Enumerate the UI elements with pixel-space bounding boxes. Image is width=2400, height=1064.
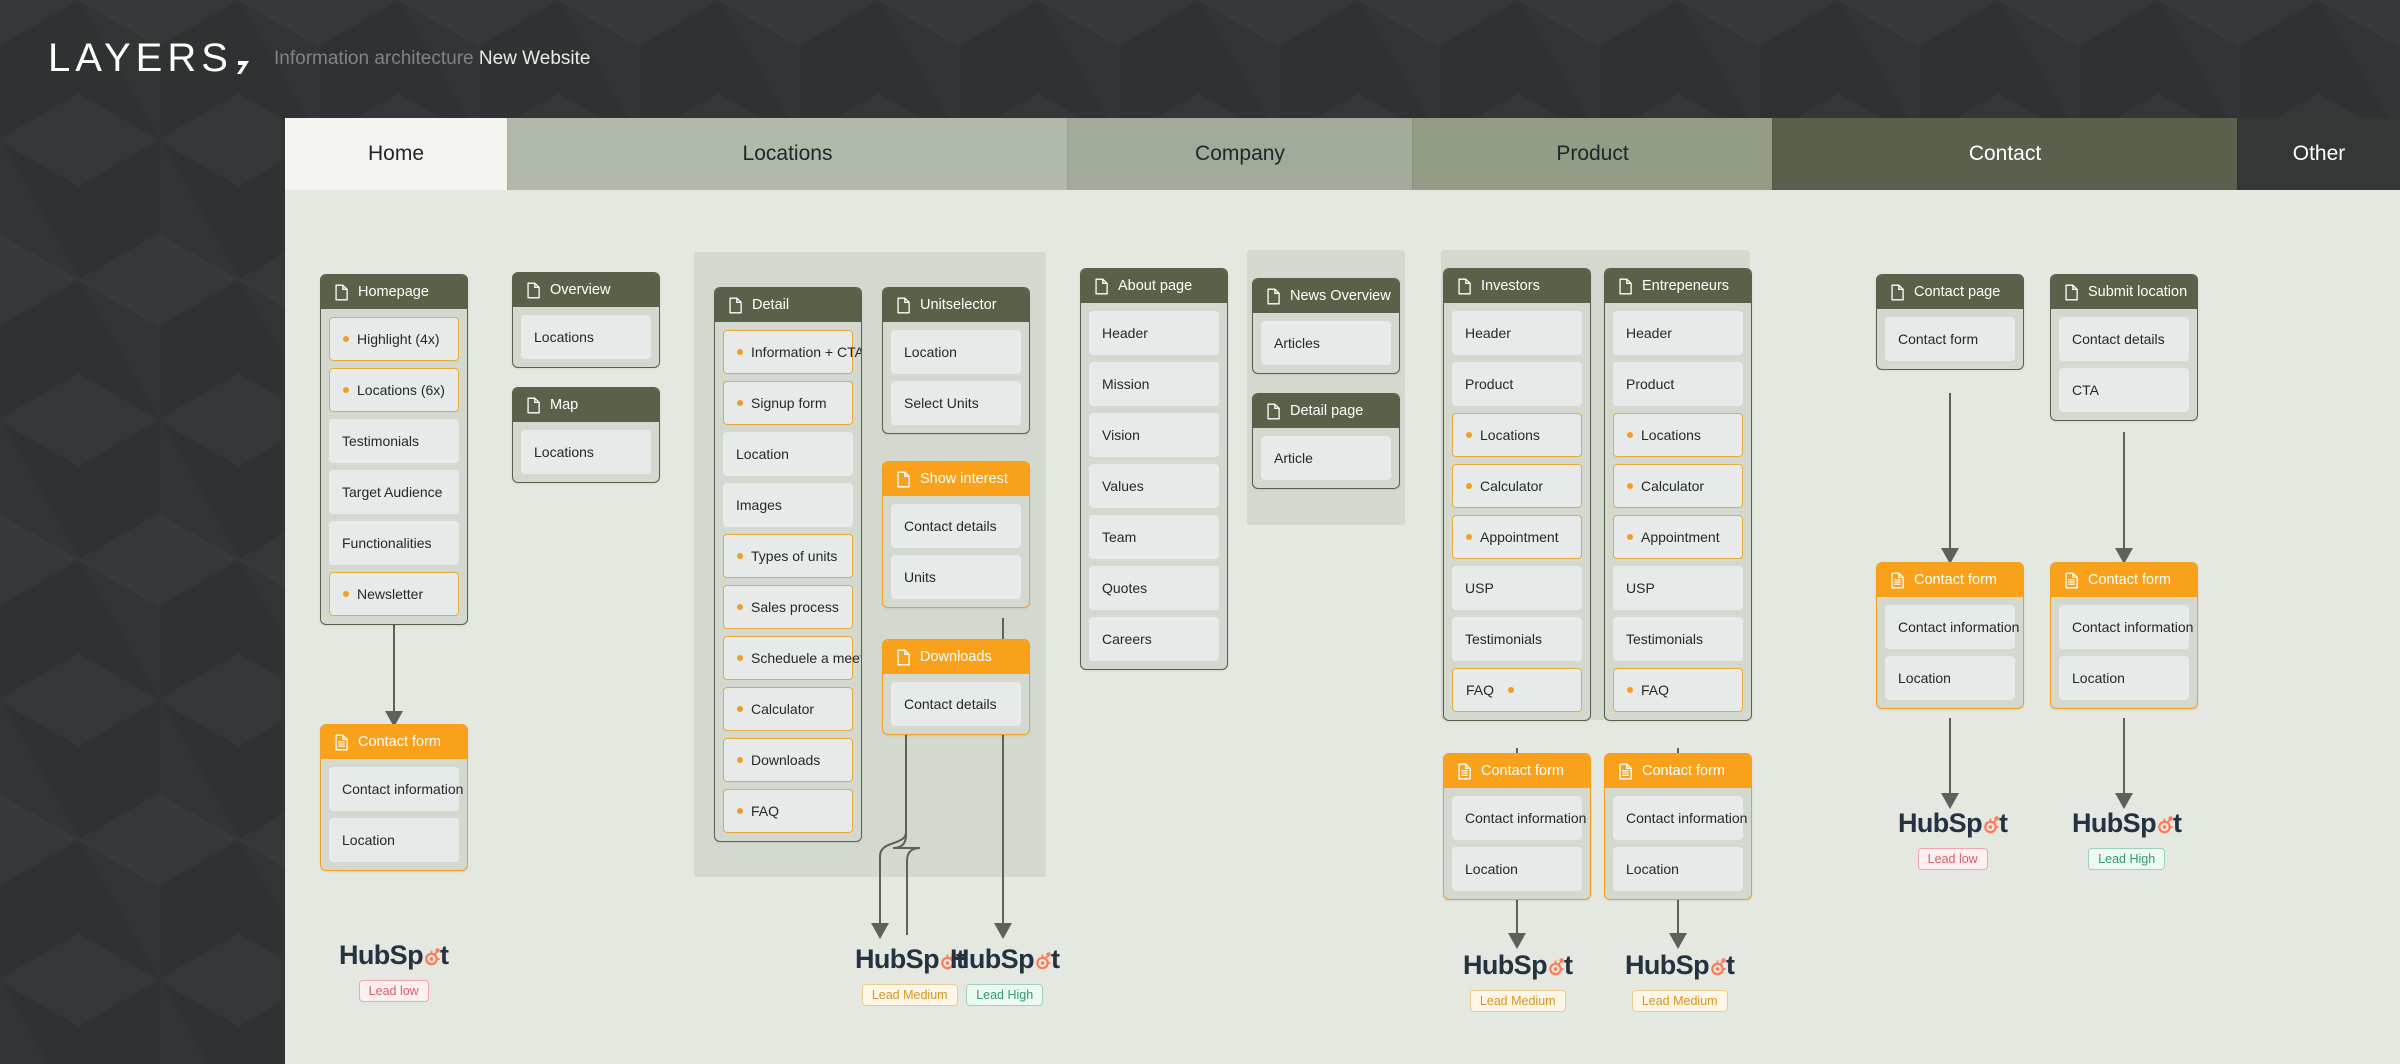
card-row[interactable]: Header bbox=[1613, 311, 1743, 355]
card-homepage[interactable]: HomepageHighlight (4x)Locations (6x)Test… bbox=[320, 274, 468, 625]
hubspot-contact-left: HubSptLead low bbox=[1898, 808, 2007, 870]
card-row-label: Contact form bbox=[1898, 331, 1978, 347]
tab-company[interactable]: Company bbox=[1067, 118, 1412, 190]
card-row-label: Contact details bbox=[904, 518, 997, 534]
card-title: Contact form bbox=[1914, 572, 1997, 588]
card-row[interactable]: USP bbox=[1613, 566, 1743, 610]
card-row[interactable]: Article bbox=[1261, 436, 1391, 480]
card-row-label: Signup form bbox=[751, 395, 826, 411]
card-row-label: Article bbox=[1274, 450, 1313, 466]
card-row-label: Information + CTA bbox=[751, 344, 862, 360]
card-row-label: Header bbox=[1465, 325, 1511, 341]
highlight-dot-icon bbox=[1627, 483, 1633, 489]
lead-status-badge: Lead Medium bbox=[1470, 990, 1566, 1012]
card-body: HeaderMissionVisionValuesTeamQuotesCaree… bbox=[1081, 303, 1227, 669]
card-row-label: Vision bbox=[1102, 427, 1140, 443]
card-row[interactable]: Appointment bbox=[1613, 515, 1743, 559]
document-icon bbox=[1094, 278, 1109, 295]
card-entrepeneurs-contact-form[interactable]: Contact formContact informationLocation bbox=[1604, 753, 1752, 900]
card-show-interest[interactable]: Show interestContact detailsUnits bbox=[882, 461, 1030, 608]
tab-label: Locations bbox=[743, 142, 833, 166]
card-row[interactable]: Location bbox=[723, 432, 853, 476]
card-row-label: Select Units bbox=[904, 395, 979, 411]
card-row-label: Quotes bbox=[1102, 580, 1147, 596]
card-row[interactable]: Contact information bbox=[1613, 796, 1743, 840]
card-row[interactable]: Locations (6x) bbox=[329, 368, 459, 412]
highlight-dot-icon bbox=[737, 655, 743, 661]
card-map[interactable]: MapLocations bbox=[512, 387, 660, 483]
highlight-dot-icon bbox=[343, 336, 349, 342]
logo-wordmark: LAYERS bbox=[48, 36, 233, 81]
card-row-label: Calculator bbox=[1480, 478, 1543, 494]
card-contact-form-left[interactable]: Contact formContact informationLocation bbox=[1876, 562, 2024, 709]
card-row-label: Product bbox=[1465, 376, 1513, 392]
form-icon bbox=[1457, 763, 1472, 780]
card-row-label: Target Audience bbox=[342, 484, 442, 500]
card-row-label: Calculator bbox=[1641, 478, 1704, 494]
hubspot-downloads: HubSptLead Medium bbox=[855, 944, 964, 1006]
card-title: News Overview bbox=[1290, 288, 1391, 304]
tab-locations[interactable]: Locations bbox=[507, 118, 1067, 190]
lead-status-badge: Lead High bbox=[966, 984, 1043, 1006]
card-title: Overview bbox=[550, 282, 610, 298]
card-row[interactable]: Contact details bbox=[2059, 317, 2189, 361]
hubspot-investors: HubSptLead Medium bbox=[1463, 950, 1572, 1012]
tab-label: Other bbox=[2293, 142, 2346, 166]
card-row[interactable]: Contact details bbox=[891, 682, 1021, 726]
highlight-dot-icon bbox=[1466, 432, 1472, 438]
card-contact-page[interactable]: Contact pageContact form bbox=[1876, 274, 2024, 370]
card-header: Detail page bbox=[1253, 394, 1399, 428]
document-icon bbox=[1266, 288, 1281, 305]
card-row[interactable]: Mission bbox=[1089, 362, 1219, 406]
card-row[interactable]: Signup form bbox=[723, 381, 853, 425]
tab-other[interactable]: Other bbox=[2237, 118, 2400, 190]
card-row[interactable]: Functionalities bbox=[329, 521, 459, 565]
card-header: Entrepeneurs bbox=[1605, 269, 1751, 303]
card-row-label: Mission bbox=[1102, 376, 1149, 392]
lead-status-badge: Lead Medium bbox=[862, 984, 958, 1006]
card-row[interactable]: Units bbox=[891, 555, 1021, 599]
card-row[interactable]: Sales process bbox=[723, 585, 853, 629]
card-row-label: Locations bbox=[534, 444, 594, 460]
breadcrumb-project: New Website bbox=[479, 48, 591, 69]
card-row-label: Location bbox=[342, 832, 395, 848]
card-row[interactable]: Newsletter bbox=[329, 572, 459, 616]
card-row[interactable]: Locations bbox=[521, 430, 651, 474]
card-row-label: Sales process bbox=[751, 599, 839, 615]
highlight-dot-icon bbox=[343, 591, 349, 597]
card-body: Contact informationLocation bbox=[2051, 597, 2197, 708]
card-row[interactable]: Contact details bbox=[891, 504, 1021, 548]
highlight-dot-icon bbox=[1627, 432, 1633, 438]
card-row-label: Locations bbox=[534, 329, 594, 345]
card-entrepeneurs[interactable]: EntrepeneursHeaderProductLocationsCalcul… bbox=[1604, 268, 1752, 721]
card-news-overview[interactable]: News OverviewArticles bbox=[1252, 278, 1400, 374]
project-breadcrumb: Information architecture New Website bbox=[274, 48, 590, 70]
card-header: Contact page bbox=[1877, 275, 2023, 309]
card-submit-location[interactable]: Submit locationContact detailsCTA bbox=[2050, 274, 2198, 421]
card-row-label: Newsletter bbox=[357, 586, 423, 602]
document-icon bbox=[526, 397, 541, 414]
lead-status-badge: Lead High bbox=[2088, 848, 2165, 870]
form-icon bbox=[1618, 763, 1633, 780]
lead-status-badge: Lead Medium bbox=[1632, 990, 1728, 1012]
card-row[interactable]: Locations bbox=[1452, 413, 1582, 457]
card-body: LocationSelect Units bbox=[883, 322, 1029, 433]
card-row[interactable]: FAQ bbox=[1613, 668, 1743, 712]
tab-label: Product bbox=[1556, 142, 1628, 166]
card-title: Investors bbox=[1481, 278, 1540, 294]
card-row-label: Functionalities bbox=[342, 535, 432, 551]
card-row-label: Contact details bbox=[2072, 331, 2165, 347]
card-row[interactable]: Testimonials bbox=[1613, 617, 1743, 661]
card-body: Contact detailsUnits bbox=[883, 496, 1029, 607]
card-row[interactable]: Types of units bbox=[723, 534, 853, 578]
card-row-label: Careers bbox=[1102, 631, 1152, 647]
card-body: Information + CTASignup formLocationImag… bbox=[715, 322, 861, 841]
card-row-label: Contact information bbox=[342, 781, 463, 797]
card-row[interactable]: Header bbox=[1452, 311, 1582, 355]
card-row[interactable]: Target Audience bbox=[329, 470, 459, 514]
card-row-label: Appointment bbox=[1641, 529, 1720, 545]
card-row-label: USP bbox=[1626, 580, 1655, 596]
card-row[interactable]: Vision bbox=[1089, 413, 1219, 457]
card-header: Homepage bbox=[321, 275, 467, 309]
card-row-label: Testimonials bbox=[1465, 631, 1542, 647]
card-row[interactable]: Contact information bbox=[1452, 796, 1582, 840]
card-row[interactable]: Articles bbox=[1261, 321, 1391, 365]
card-title: Entrepeneurs bbox=[1642, 278, 1729, 294]
card-title: Contact form bbox=[1642, 763, 1725, 779]
highlight-dot-icon bbox=[1466, 534, 1472, 540]
card-row-label: Contact information bbox=[1626, 810, 1747, 826]
hubspot-show-interest: HubSptLead High bbox=[950, 944, 1059, 1006]
card-row-label: Images bbox=[736, 497, 782, 513]
card-header: Contact form bbox=[1444, 754, 1590, 788]
tab-home[interactable]: Home bbox=[285, 118, 507, 190]
card-row-label: USP bbox=[1465, 580, 1494, 596]
card-row-label: Units bbox=[904, 569, 936, 585]
card-row[interactable]: Header bbox=[1089, 311, 1219, 355]
card-row[interactable]: Appointment bbox=[1452, 515, 1582, 559]
tab-contact[interactable]: Contact bbox=[1772, 118, 2237, 190]
card-row[interactable]: Contact information bbox=[329, 767, 459, 811]
card-body: HeaderProductLocationsCalculatorAppointm… bbox=[1444, 303, 1590, 720]
card-row[interactable]: Information + CTA bbox=[723, 330, 853, 374]
card-row[interactable]: Testimonials bbox=[1452, 617, 1582, 661]
card-row-label: Locations bbox=[1641, 427, 1701, 443]
card-row-label: Scheduele a meeting bbox=[751, 650, 862, 666]
card-row-label: Testimonials bbox=[1626, 631, 1703, 647]
card-row-label: Team bbox=[1102, 529, 1136, 545]
form-icon bbox=[1890, 572, 1905, 589]
tab-label: Contact bbox=[1969, 142, 2041, 166]
card-title: Unitselector bbox=[920, 297, 997, 313]
card-row-label: FAQ bbox=[1641, 682, 1669, 698]
card-row[interactable]: Select Units bbox=[891, 381, 1021, 425]
card-row[interactable]: Calculator bbox=[1613, 464, 1743, 508]
card-row-label: Location bbox=[1626, 861, 1679, 877]
card-title: Contact form bbox=[1481, 763, 1564, 779]
card-downloads[interactable]: DownloadsContact details bbox=[882, 639, 1030, 735]
highlight-dot-icon bbox=[1627, 687, 1633, 693]
layers-logo: LAYERS bbox=[48, 36, 253, 81]
highlight-dot-icon bbox=[737, 400, 743, 406]
document-icon bbox=[896, 649, 911, 666]
card-title: Contact form bbox=[2088, 572, 2171, 588]
highlight-dot-icon bbox=[737, 604, 743, 610]
card-investors-contact-form[interactable]: Contact formContact informationLocation bbox=[1443, 753, 1591, 900]
card-header: Contact form bbox=[321, 725, 467, 759]
card-row[interactable]: Contact form bbox=[1885, 317, 2015, 361]
card-row[interactable]: USP bbox=[1452, 566, 1582, 610]
card-row-label: Header bbox=[1102, 325, 1148, 341]
form-icon bbox=[2064, 572, 2079, 589]
card-row-label: Calculator bbox=[751, 701, 814, 717]
card-title: Detail page bbox=[1290, 403, 1363, 419]
hubspot-home: HubSptLead low bbox=[339, 940, 448, 1002]
card-row-label: Contact information bbox=[2072, 619, 2193, 635]
document-icon bbox=[1266, 403, 1281, 420]
card-row-label: Types of units bbox=[751, 548, 837, 564]
card-header: Submit location bbox=[2051, 275, 2197, 309]
card-home-contact-form[interactable]: Contact formContact informationLocation bbox=[320, 724, 468, 871]
hubspot-logo: HubSpt bbox=[950, 944, 1059, 975]
card-header: Contact form bbox=[1877, 563, 2023, 597]
card-body: Contact informationLocation bbox=[1605, 788, 1751, 899]
card-header: Detail bbox=[715, 288, 861, 322]
hubspot-entrepeneurs: HubSptLead Medium bbox=[1625, 950, 1734, 1012]
highlight-dot-icon bbox=[343, 387, 349, 393]
card-row-label: CTA bbox=[2072, 382, 2099, 398]
card-detail-page[interactable]: Detail pageArticle bbox=[1252, 393, 1400, 489]
card-row[interactable]: CTA bbox=[2059, 368, 2189, 412]
card-header: Contact form bbox=[2051, 563, 2197, 597]
card-about-page[interactable]: About pageHeaderMissionVisionValuesTeamQ… bbox=[1080, 268, 1228, 670]
card-row[interactable]: Location bbox=[1613, 847, 1743, 891]
hubspot-logo: HubSpt bbox=[2072, 808, 2181, 839]
document-icon bbox=[1890, 284, 1905, 301]
hubspot-logo: HubSpt bbox=[1625, 950, 1734, 981]
card-row[interactable]: Location bbox=[1452, 847, 1582, 891]
card-detail[interactable]: DetailInformation + CTASignup formLocati… bbox=[714, 287, 862, 842]
top-bar: LAYERS Information architecture New Webs… bbox=[0, 0, 2400, 118]
lead-status-badge: Lead low bbox=[359, 980, 429, 1002]
highlight-dot-icon bbox=[737, 706, 743, 712]
card-body: Highlight (4x)Locations (6x)Testimonials… bbox=[321, 309, 467, 624]
hubspot-contact-right: HubSptLead High bbox=[2072, 808, 2181, 870]
card-investors[interactable]: InvestorsHeaderProductLocationsCalculato… bbox=[1443, 268, 1591, 721]
card-body: HeaderProductLocationsCalculatorAppointm… bbox=[1605, 303, 1751, 720]
tab-label: Company bbox=[1195, 142, 1285, 166]
card-row[interactable]: Location bbox=[329, 818, 459, 862]
card-row[interactable]: Team bbox=[1089, 515, 1219, 559]
card-body: Articles bbox=[1253, 313, 1399, 373]
card-row[interactable]: Product bbox=[1452, 362, 1582, 406]
card-row-label: Location bbox=[1465, 861, 1518, 877]
card-row-label: Location bbox=[904, 344, 957, 360]
card-row-label: Contact information bbox=[1898, 619, 2019, 635]
highlight-dot-icon bbox=[737, 757, 743, 763]
card-row[interactable]: Location bbox=[2059, 656, 2189, 700]
card-row-label: FAQ bbox=[751, 803, 779, 819]
highlight-dot-icon bbox=[1508, 687, 1514, 693]
card-row[interactable]: Contact information bbox=[1885, 605, 2015, 649]
card-unitselector[interactable]: UnitselectorLocationSelect Units bbox=[882, 287, 1030, 434]
document-icon bbox=[2064, 284, 2079, 301]
highlight-dot-icon bbox=[737, 553, 743, 559]
form-icon bbox=[334, 734, 349, 751]
card-header: Downloads bbox=[883, 640, 1029, 674]
card-header: About page bbox=[1081, 269, 1227, 303]
card-body: Contact informationLocation bbox=[321, 759, 467, 870]
card-row[interactable]: Scheduele a meeting bbox=[723, 636, 853, 680]
document-icon bbox=[1457, 278, 1472, 295]
card-body: Locations bbox=[513, 307, 659, 367]
card-row[interactable]: Values bbox=[1089, 464, 1219, 508]
card-row[interactable]: Locations bbox=[1613, 413, 1743, 457]
document-icon bbox=[1618, 278, 1633, 295]
card-header: Investors bbox=[1444, 269, 1590, 303]
card-body: Contact form bbox=[1877, 309, 2023, 369]
logo-comma-icon bbox=[235, 41, 253, 77]
card-row-label: Articles bbox=[1274, 335, 1320, 351]
card-row-label: Location bbox=[736, 446, 789, 462]
card-row[interactable]: Downloads bbox=[723, 738, 853, 782]
card-row-label: Testimonials bbox=[342, 433, 419, 449]
card-row-label: Product bbox=[1626, 376, 1674, 392]
card-row[interactable]: Calculator bbox=[1452, 464, 1582, 508]
hubspot-logo: HubSpt bbox=[1463, 950, 1572, 981]
card-body: Contact detailsCTA bbox=[2051, 309, 2197, 420]
card-contact-form-right[interactable]: Contact formContact informationLocation bbox=[2050, 562, 2198, 709]
tab-label: Home bbox=[368, 142, 424, 166]
card-row[interactable]: Product bbox=[1613, 362, 1743, 406]
card-row-label: Contact information bbox=[1465, 810, 1586, 826]
card-body: Contact details bbox=[883, 674, 1029, 734]
card-row-label: FAQ bbox=[1466, 682, 1494, 698]
card-title: Show interest bbox=[920, 471, 1008, 487]
card-row[interactable]: Highlight (4x) bbox=[329, 317, 459, 361]
highlight-dot-icon bbox=[737, 349, 743, 355]
card-row-label: Locations bbox=[1480, 427, 1540, 443]
card-row[interactable]: Locations bbox=[521, 315, 651, 359]
card-title: Contact page bbox=[1914, 284, 2000, 300]
card-row-label: Values bbox=[1102, 478, 1144, 494]
card-title: Downloads bbox=[920, 649, 992, 665]
highlight-dot-icon bbox=[1627, 534, 1633, 540]
hubspot-logo: HubSpt bbox=[855, 944, 964, 975]
card-title: About page bbox=[1118, 278, 1192, 294]
card-title: Contact form bbox=[358, 734, 441, 750]
card-row[interactable]: Location bbox=[891, 330, 1021, 374]
document-icon bbox=[896, 297, 911, 314]
section-tabs: Home Locations Company Product Contact O… bbox=[285, 118, 2400, 190]
document-icon bbox=[334, 284, 349, 301]
card-row-label: Downloads bbox=[751, 752, 820, 768]
card-row[interactable]: Images bbox=[723, 483, 853, 527]
card-row[interactable]: Careers bbox=[1089, 617, 1219, 661]
tab-product[interactable]: Product bbox=[1412, 118, 1772, 190]
lead-status-badge: Lead low bbox=[1918, 848, 1988, 870]
highlight-dot-icon bbox=[1466, 483, 1472, 489]
card-header: Overview bbox=[513, 273, 659, 307]
card-body: Contact informationLocation bbox=[1877, 597, 2023, 708]
card-title: Map bbox=[550, 397, 578, 413]
card-header: Show interest bbox=[883, 462, 1029, 496]
card-header: News Overview bbox=[1253, 279, 1399, 313]
card-body: Article bbox=[1253, 428, 1399, 488]
card-header: Contact form bbox=[1605, 754, 1751, 788]
card-row-label: Appointment bbox=[1480, 529, 1559, 545]
card-title: Homepage bbox=[358, 284, 429, 300]
document-icon bbox=[896, 471, 911, 488]
card-title: Detail bbox=[752, 297, 789, 313]
highlight-dot-icon bbox=[737, 808, 743, 814]
card-row-label: Location bbox=[1898, 670, 1951, 686]
card-row-label: Contact details bbox=[904, 696, 997, 712]
card-row[interactable]: Quotes bbox=[1089, 566, 1219, 610]
card-body: Locations bbox=[513, 422, 659, 482]
card-body: Contact informationLocation bbox=[1444, 788, 1590, 899]
card-row[interactable]: Calculator bbox=[723, 687, 853, 731]
card-row[interactable]: FAQ bbox=[723, 789, 853, 833]
card-row[interactable]: Testimonials bbox=[329, 419, 459, 463]
card-row[interactable]: Contact information bbox=[2059, 605, 2189, 649]
card-title: Submit location bbox=[2088, 284, 2187, 300]
hubspot-logo: HubSpt bbox=[339, 940, 448, 971]
card-row-label: Highlight (4x) bbox=[357, 331, 439, 347]
card-row[interactable]: FAQ bbox=[1452, 668, 1582, 712]
card-row[interactable]: Location bbox=[1885, 656, 2015, 700]
hubspot-logo: HubSpt bbox=[1898, 808, 2007, 839]
card-header: Unitselector bbox=[883, 288, 1029, 322]
breadcrumb-label: Information architecture bbox=[274, 48, 474, 69]
card-overview[interactable]: OverviewLocations bbox=[512, 272, 660, 368]
document-icon bbox=[526, 282, 541, 299]
document-icon bbox=[728, 297, 743, 314]
card-row-label: Locations (6x) bbox=[357, 382, 445, 398]
card-header: Map bbox=[513, 388, 659, 422]
card-row-label: Location bbox=[2072, 670, 2125, 686]
card-row-label: Header bbox=[1626, 325, 1672, 341]
